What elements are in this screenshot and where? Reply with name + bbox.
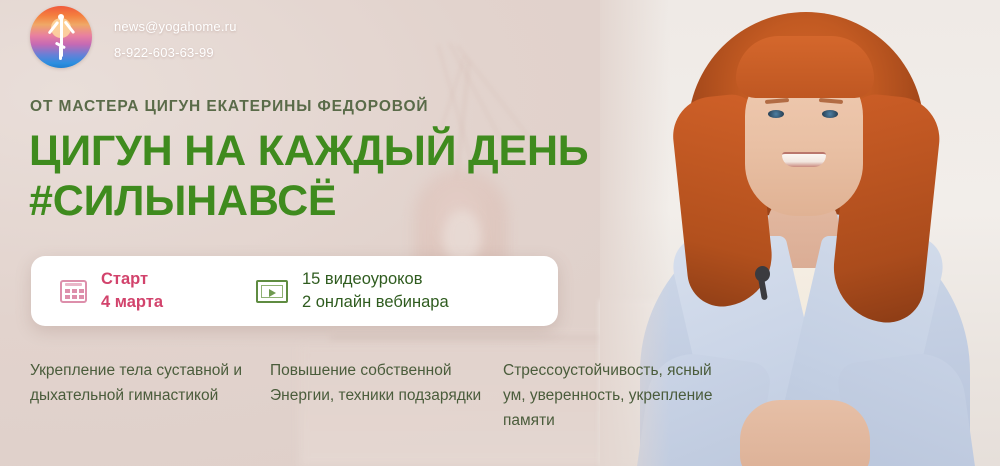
- contact-phone[interactable]: 8-922-603-63-99: [114, 45, 237, 60]
- play-triangle-icon: [269, 289, 276, 297]
- brand-logo-icon[interactable]: [30, 6, 92, 68]
- page-title: ЦИГУН НА КАЖДЫЙ ДЕНЬ #СИЛЫНАВСЁ: [29, 126, 589, 227]
- start-label: Старт: [101, 269, 163, 290]
- webinars-count: 2 онлайн вебинара: [302, 292, 449, 313]
- contact-email[interactable]: news@yogahome.ru: [114, 19, 237, 34]
- video-play-icon: [256, 280, 288, 303]
- logo-leg-standing: [59, 46, 62, 60]
- start-date: 4 марта: [101, 292, 163, 313]
- benefits-list: Укрепление тела суставной и дыхательной …: [30, 358, 730, 433]
- video-lessons-count: 15 видеоуроков: [302, 269, 449, 290]
- start-date-text: Старт 4 марта: [101, 269, 163, 312]
- hero-eyebrow: ОТ МАСТЕРА ЦИГУН ЕКАТЕРИНЫ ФЕДОРОВОЙ: [30, 98, 428, 116]
- video-count-block: 15 видеоуроков 2 онлайн вебинара: [256, 269, 449, 313]
- headline-line-2: #СИЛЫНАВСЁ: [29, 176, 589, 226]
- header: news@yogahome.ru 8-922-603-63-99: [30, 6, 237, 68]
- benefit-item: Повышение собственной Энергии, техники п…: [270, 358, 503, 433]
- calendar-icon: [60, 280, 87, 303]
- benefit-item: Стрессоустойчивость, ясный ум, увереннос…: [503, 358, 723, 433]
- benefit-item: Укрепление тела суставной и дыхательной …: [30, 358, 270, 433]
- course-info-card: Старт 4 марта 15 видеоуроков 2 онлайн ве…: [31, 256, 558, 326]
- hero-banner: news@yogahome.ru 8-922-603-63-99 ОТ МАСТ…: [0, 0, 1000, 466]
- calendar-grid: [65, 289, 84, 299]
- video-count-text: 15 видеоуроков 2 онлайн вебинара: [302, 269, 449, 313]
- hero-content: news@yogahome.ru 8-922-603-63-99 ОТ МАСТ…: [0, 0, 1000, 466]
- start-date-block: Старт 4 марта: [60, 269, 256, 312]
- headline-line-1: ЦИГУН НА КАЖДЫЙ ДЕНЬ: [29, 127, 589, 175]
- contact-block: news@yogahome.ru 8-922-603-63-99: [114, 15, 237, 60]
